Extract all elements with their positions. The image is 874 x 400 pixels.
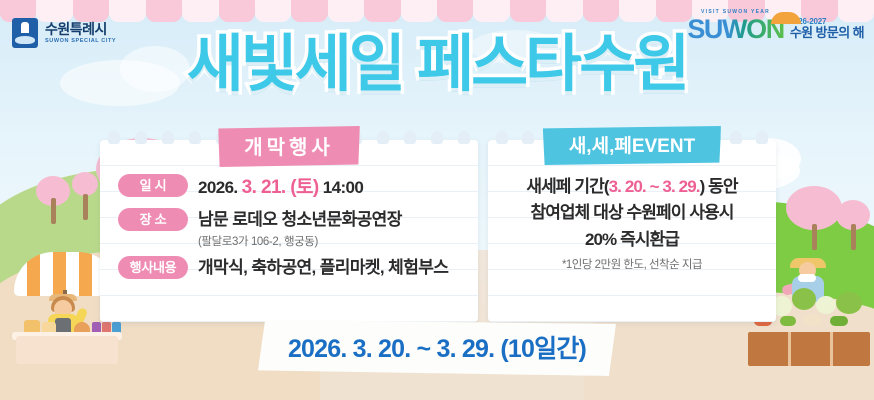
event-note: *1인당 2만원 한도, 선착순 지급 bbox=[500, 256, 764, 272]
row-label-contents: 행사내용 bbox=[118, 256, 188, 279]
event-line-2: 참여업체 대상 수원페이 사용시 bbox=[500, 200, 764, 226]
suwon-tower-icon bbox=[12, 18, 38, 48]
row-label-datetime: 일 시 bbox=[118, 174, 188, 197]
vegetable-item bbox=[830, 316, 848, 326]
event-card: 새,세,페EVENT 새세페 기간(3. 20. ~ 3. 29.) 동안 참여… bbox=[488, 140, 776, 322]
visit-suwon-logo[interactable]: VISIT SUWON YEAR SUWON 2026-2027 수원 방문의 … bbox=[687, 10, 864, 43]
contents-value: 개막식, 축하공연, 플리마켓, 체험부스 bbox=[198, 257, 464, 280]
festival-title-subscript: 수원 bbox=[579, 32, 687, 97]
datetime-highlight: 3. 21. (토) bbox=[242, 177, 319, 198]
opening-event-rows: 일 시 2026. 3. 21. (토) 14:00 장 소 남문 로데오 청소… bbox=[118, 174, 464, 287]
event-line1-prefix: 새세페 기간( bbox=[526, 177, 608, 196]
visit-suwon-tagline-ko: 수원 방문의 해 bbox=[790, 26, 864, 41]
vegetable-item bbox=[816, 296, 836, 314]
event-card-header: 새,세,페EVENT bbox=[543, 126, 721, 165]
location-address: (팔달로3가 106-2, 행궁동) bbox=[198, 233, 464, 249]
info-row-contents: 행사내용 개막식, 축하공연, 플리마켓, 체험부스 bbox=[118, 256, 464, 280]
suwon-wordmark: SUWON bbox=[687, 16, 784, 43]
event-line-3: 20% 즉시환급 bbox=[500, 227, 764, 253]
datetime-prefix: 2026. bbox=[198, 178, 238, 197]
info-row-datetime: 일 시 2026. 3. 21. (토) 14:00 bbox=[118, 174, 464, 201]
festival-title: 새빛세일 페스타 bbox=[187, 32, 580, 97]
cherry-blossom-tree-icon bbox=[836, 200, 870, 250]
farmer-scarf bbox=[798, 274, 816, 282]
vegetable-item bbox=[780, 316, 796, 326]
city-logo-korean: 수원특례시 bbox=[45, 22, 116, 36]
cherry-blossom-tree-icon bbox=[786, 186, 842, 250]
row-label-location: 장 소 bbox=[118, 208, 188, 231]
promo-banner: 수원특례시 SUWON SPECIAL CITY VISIT SUWON YEA… bbox=[0, 0, 874, 400]
cherry-blossom-tree-icon bbox=[36, 176, 70, 224]
period-text: 2026. 3. 20. ~ 3. 29. (10일간) bbox=[288, 335, 586, 363]
datetime-suffix: 14:00 bbox=[323, 178, 363, 197]
location-value: 남문 로데오 청소년문화공연장 bbox=[198, 209, 464, 232]
vegetable-item bbox=[804, 314, 822, 326]
event-line-1: 새세페 기간(3. 20. ~ 3. 29.) 동안 bbox=[500, 174, 764, 200]
city-logo-english: SUWON SPECIAL CITY bbox=[45, 39, 116, 45]
cherry-blossom-tree-icon bbox=[72, 172, 98, 220]
event-period-highlight: 3. 20. ~ 3. 29. bbox=[609, 177, 700, 196]
opening-event-header: 개막행사 bbox=[218, 126, 360, 167]
opening-event-card: 개막행사 일 시 2026. 3. 21. (토) 14:00 장 소 남문 로… bbox=[100, 140, 478, 322]
wooden-crate bbox=[748, 332, 870, 366]
suwon-city-logo[interactable]: 수원특례시 SUWON SPECIAL CITY bbox=[12, 18, 116, 48]
event-line1-suffix: ) 동안 bbox=[700, 177, 738, 196]
period-ribbon: 2026. 3. 20. ~ 3. 29. (10일간) bbox=[258, 320, 616, 376]
event-card-body: 새세페 기간(3. 20. ~ 3. 29.) 동안 참여업체 대상 수원페이 … bbox=[500, 174, 764, 272]
vegetable-item bbox=[836, 292, 862, 314]
stall-counter bbox=[16, 336, 118, 364]
info-row-location: 장 소 남문 로데오 청소년문화공연장 (팔달로3가 106-2, 행궁동) bbox=[118, 208, 464, 249]
vegetable-item bbox=[792, 288, 816, 310]
arch-icon bbox=[771, 12, 801, 24]
